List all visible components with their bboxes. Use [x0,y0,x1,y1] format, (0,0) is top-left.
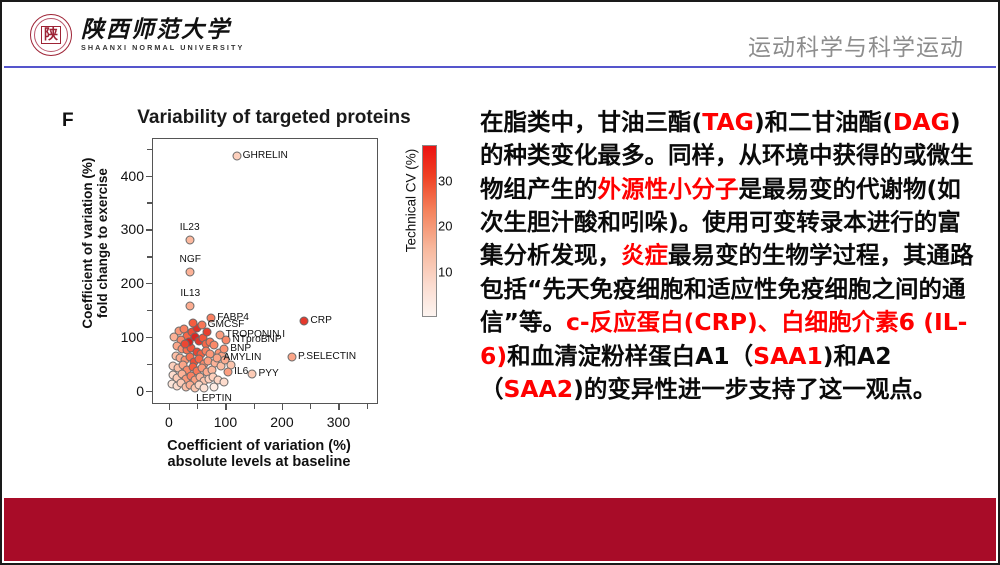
y-minor-tick [147,364,152,365]
y-tick-label: 300 [100,221,144,237]
scatter-plot-area: GHRELINIL23NGFIL13FABP4GMCSFTROPONIN INT… [152,138,378,404]
paragraph-text: 和血清淀粉样蛋白A1（ [507,342,753,370]
point-label-amylin: AMYLIN [223,352,261,363]
point-label-il23: IL23 [180,222,200,233]
scatter-point-leptin [210,382,219,391]
highlighted-text: 炎症 [621,241,668,269]
university-name-en: SHAANXI NORMAL UNIVERSITY [81,44,244,51]
header-title: 运动科学与科学运动 [748,28,964,62]
scatter-point-ghrelin [232,152,241,161]
point-label-pyy: PYY [258,368,278,379]
slide-footer [4,498,996,561]
colorbar-tick-label: 10 [438,264,452,279]
y-tick-mark [146,391,152,392]
point-label-crp: CRP [310,315,332,326]
scatter-point-il6 [224,368,233,377]
scatter-point-gmcsf [197,320,206,329]
y-axis-label-line1: Coefficient of variation (%) [80,158,95,329]
colorbar-title: Technical CV (%) [404,136,419,266]
highlighted-text: SAA1 [753,342,823,370]
wordmark: 陕西师范大学 SHAANXI NORMAL UNIVERSITY [81,18,244,51]
point-label-p-selectin: P.SELECTIN [298,351,356,362]
x-minor-tick [367,404,368,409]
paragraph-text: )的变异性进一步支持了这一观点。 [573,375,936,403]
x-tick-mark [282,404,283,410]
scatter-point-amylin [213,353,222,362]
highlighted-text: 外源性小分子 [598,175,739,203]
university-name-cn: 陕西师范大学 [81,18,244,41]
scatter-point-il13 [186,301,195,310]
body-paragraph: 在脂类中，甘油三酯(TAG)和二甘油酯(DAG)的种类变化最多。同样，从环境中获… [480,106,980,406]
x-minor-tick [254,404,255,409]
y-tick-label: 200 [100,275,144,291]
x-tick-label: 0 [144,414,194,430]
colorbar-tick-label: 30 [438,174,452,189]
paragraph-text: 在脂类中，甘油三酯( [480,108,702,136]
highlighted-text: SAA2 [504,375,574,403]
y-minor-tick [147,202,152,203]
y-tick-label: 0 [100,383,144,399]
x-tick-mark [169,404,170,410]
university-logo: 陕 陕西师范大学 SHAANXI NORMAL UNIVERSITY [30,14,244,56]
highlighted-text: TAG [702,108,754,136]
paragraph-text: )和二甘油酯( [754,108,893,136]
y-minor-tick [147,149,152,150]
colorbar-gradient [422,145,437,317]
slide-header: 陕 陕西师范大学 SHAANXI NORMAL UNIVERSITY 运动科学与… [2,2,998,66]
x-minor-tick [197,404,198,409]
colorbar-legend: Technical CV (%) 102030 [392,145,458,335]
y-axis-label: Coefficient of variation (%) fold change… [80,128,110,358]
x-tick-label: 200 [257,414,307,430]
x-tick-mark [225,404,226,410]
scatter-point [180,340,189,349]
slide: 陕 陕西师范大学 SHAANXI NORMAL UNIVERSITY 运动科学与… [0,0,1000,565]
highlighted-text: DAG [893,108,950,136]
x-tick-label: 300 [313,414,363,430]
x-axis-label-line1: Coefficient of variation (%) [167,438,351,454]
panel-label: F [62,110,74,132]
x-tick-mark [338,404,339,410]
y-tick-mark [146,176,152,177]
y-tick-label: 100 [100,329,144,345]
scatter-point [188,318,197,327]
scatter-point [199,384,208,393]
x-axis-label: Coefficient of variation (%) absolute le… [94,438,424,470]
point-label-ghrelin: GHRELIN [243,150,288,161]
slide-body: F Variability of targeted proteins Coeff… [4,68,996,499]
scatter-point-crp [300,317,309,326]
scatter-point-ngf [186,268,195,277]
y-minor-tick [147,310,152,311]
scatter-point-p-selectin [287,353,296,362]
figure-panel-f: F Variability of targeted proteins Coeff… [44,93,464,493]
y-tick-mark [146,283,152,284]
x-axis-label-line2: absolute levels at baseline [168,454,351,470]
point-label-ngf: NGF [180,254,202,265]
seal-icon: 陕 [30,14,72,56]
y-tick-mark [146,229,152,230]
chart-title: Variability of targeted proteins [104,107,444,129]
y-axis-label-line2: fold change to exercise [95,168,110,318]
seal-character: 陕 [41,26,61,44]
colorbar-tick-label: 20 [438,219,452,234]
x-minor-tick [310,404,311,409]
x-tick-label: 100 [200,414,250,430]
y-minor-tick [147,256,152,257]
y-tick-label: 400 [100,168,144,184]
scatter-point [219,378,228,387]
scatter-point-il23 [185,236,194,245]
scatter-point-pyy [248,369,257,378]
point-label-leptin: LEPTIN [196,393,232,404]
point-label-il13: IL13 [180,288,200,299]
point-label-il6: IL6 [234,366,248,377]
y-tick-mark [146,337,152,338]
